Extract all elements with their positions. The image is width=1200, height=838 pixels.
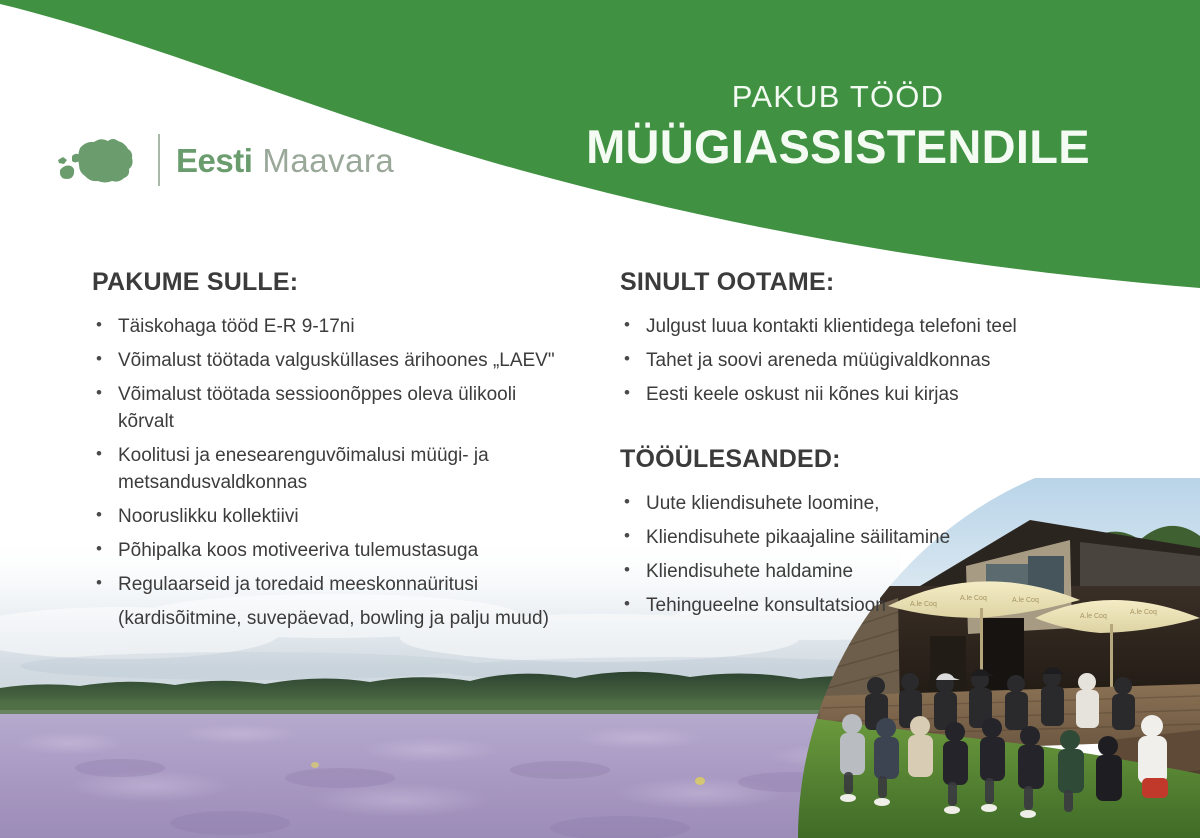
list-item: Eesti keele oskust nii kõnes kui kirjas [620,382,1120,409]
svg-text:A.le Coq: A.le Coq [910,601,937,608]
list-item: Tahet ja soovi areneda müügivaldkonnas [620,348,1120,375]
svg-text:A.le Coq: A.le Coq [960,595,987,602]
svg-text:A.le Coq: A.le Coq [1012,597,1039,604]
list-item: Võimalust töötada valgusküllases ärihoon… [92,348,560,375]
list-item: Nooruslikku kollektiivi [92,504,560,531]
logo-word-primary: Eesti [176,144,252,177]
estonia-map-icon [56,130,148,190]
list-item: Koolitusi ja enesearenguvõimalusi müügi-… [92,443,560,497]
heading-tooulesanded: TÖÖÜLESANDED: [620,445,1120,474]
job-ad-poster: A.le Coq A.le Coq A.le Coq A.le Coq A.le… [0,0,1200,838]
svg-text:A.le Coq: A.le Coq [1080,613,1107,620]
list-item: Julgust luua kontakti klientidega telefo… [620,314,1120,341]
svg-text:A.le Coq: A.le Coq [1130,609,1157,616]
list-requirements: Julgust luua kontakti klientidega telefo… [620,314,1120,409]
logo-divider [158,134,160,186]
logo-wordmark: Eesti Maavara [176,144,394,177]
list-item: Täiskohaga tööd E-R 9-17ni [92,314,560,341]
list-item: Võimalust töötada sessioonõppes oleva ül… [92,382,560,436]
phacelia-field-photo [0,538,900,838]
team-group-photo: A.le Coq A.le Coq A.le Coq A.le Coq A.le… [780,478,1200,838]
logo-word-secondary: Maavara [262,144,394,177]
company-logo: Eesti Maavara [56,128,394,192]
